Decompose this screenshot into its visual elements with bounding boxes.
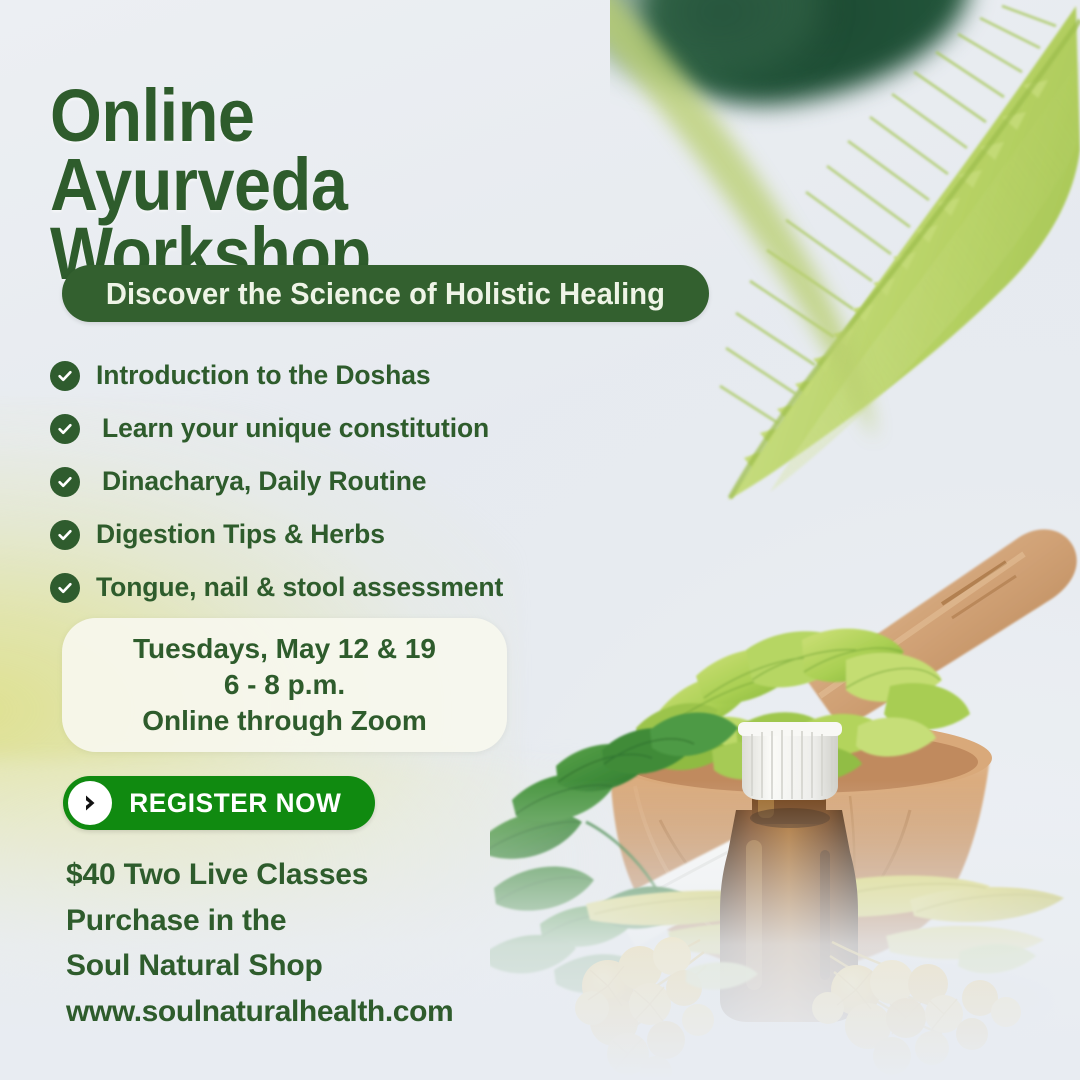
list-item: Tongue, nail & stool assessment: [50, 564, 670, 611]
list-item-label: Digestion Tips & Herbs: [96, 519, 385, 550]
check-circle-icon: [50, 361, 80, 391]
subtitle-text: Discover the Science of Holistic Healing: [106, 276, 665, 312]
chevron-right-icon: [68, 781, 112, 825]
footer-block: $40 Two Live Classes Purchase in the Sou…: [66, 852, 666, 1034]
subtitle-pill: Discover the Science of Holistic Healing: [62, 265, 709, 322]
check-circle-icon: [50, 520, 80, 550]
website-url[interactable]: www.soulnaturalhealth.com: [66, 989, 666, 1035]
price-line: $40 Two Live Classes: [66, 852, 666, 898]
list-item-label: Dinacharya, Daily Routine: [96, 466, 426, 497]
feature-list: Introduction to the Doshas Learn your un…: [50, 352, 670, 617]
list-item: Dinacharya, Daily Routine: [50, 458, 670, 505]
list-item-label: Tongue, nail & stool assessment: [96, 572, 503, 603]
schedule-card: Tuesdays, May 12 & 19 6 - 8 p.m. Online …: [62, 618, 507, 752]
register-button[interactable]: REGISTER NOW: [63, 776, 375, 830]
page-title: Online Ayurveda Workshop: [50, 82, 626, 288]
list-item-label: Introduction to the Doshas: [96, 360, 431, 391]
poster-canvas: Online Ayurveda Workshop Discover the Sc…: [0, 0, 1080, 1080]
schedule-dates: Tuesdays, May 12 & 19: [133, 631, 436, 667]
shop-name-line: Soul Natural Shop: [66, 943, 666, 989]
list-item: Digestion Tips & Herbs: [50, 511, 670, 558]
list-item: Learn your unique constitution: [50, 405, 670, 452]
list-item: Introduction to the Doshas: [50, 352, 670, 399]
schedule-time: 6 - 8 p.m.: [224, 667, 345, 703]
check-circle-icon: [50, 414, 80, 444]
check-circle-icon: [50, 467, 80, 497]
list-item-label: Learn your unique constitution: [96, 413, 489, 444]
schedule-platform: Online through Zoom: [142, 703, 427, 739]
content-column: Online Ayurveda Workshop Discover the Sc…: [0, 0, 700, 1080]
register-button-label: REGISTER NOW: [129, 788, 341, 819]
check-circle-icon: [50, 573, 80, 603]
purchase-line: Purchase in the: [66, 898, 666, 944]
